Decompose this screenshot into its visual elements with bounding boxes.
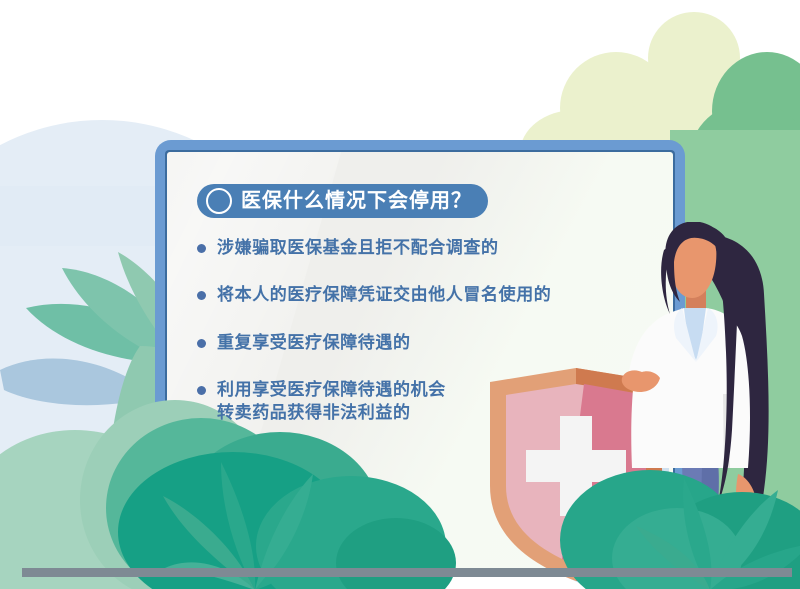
- list-item-label: 利用享受医疗保障待遇的机会 转卖药品获得非法利益的: [217, 379, 446, 424]
- list-item-label: 重复享受医疗保障待遇的: [217, 332, 411, 354]
- bullet-dot-icon: [197, 291, 206, 300]
- bullet-list: 涉嫌骗取医保基金且拒不配合调查的 将本人的医疗保障凭证交由他人冒名使用的 重复享…: [197, 237, 647, 449]
- list-item: 重复享受医疗保障待遇的: [197, 332, 647, 354]
- list-item: 利用享受医疗保障待遇的机会 转卖药品获得非法利益的: [197, 379, 647, 424]
- board-title-badge: 医保什么情况下会停用？: [197, 184, 488, 218]
- bullet-dot-icon: [197, 386, 206, 395]
- information-board: 医保什么情况下会停用？ 涉嫌骗取医保基金且拒不配合调查的 将本人的医疗保障凭证交…: [155, 140, 685, 570]
- list-item-label: 涉嫌骗取医保基金且拒不配合调查的: [217, 237, 499, 259]
- bullet-dot-icon: [197, 339, 206, 348]
- bullet-dot-icon: [197, 244, 206, 253]
- board-content: 医保什么情况下会停用？ 涉嫌骗取医保基金且拒不配合调查的 将本人的医疗保障凭证交…: [155, 140, 685, 570]
- list-item: 涉嫌骗取医保基金且拒不配合调查的: [197, 237, 647, 259]
- list-item: 将本人的医疗保障凭证交由他人冒名使用的: [197, 284, 647, 306]
- board-title-text: 医保什么情况下会停用？: [241, 191, 472, 211]
- ring-circle-icon: [206, 188, 232, 214]
- list-item-label: 将本人的医疗保障凭证交由他人冒名使用的: [217, 284, 551, 306]
- poster-scene: 医保什么情况下会停用？ 涉嫌骗取医保基金且拒不配合调查的 将本人的医疗保障凭证交…: [0, 0, 800, 589]
